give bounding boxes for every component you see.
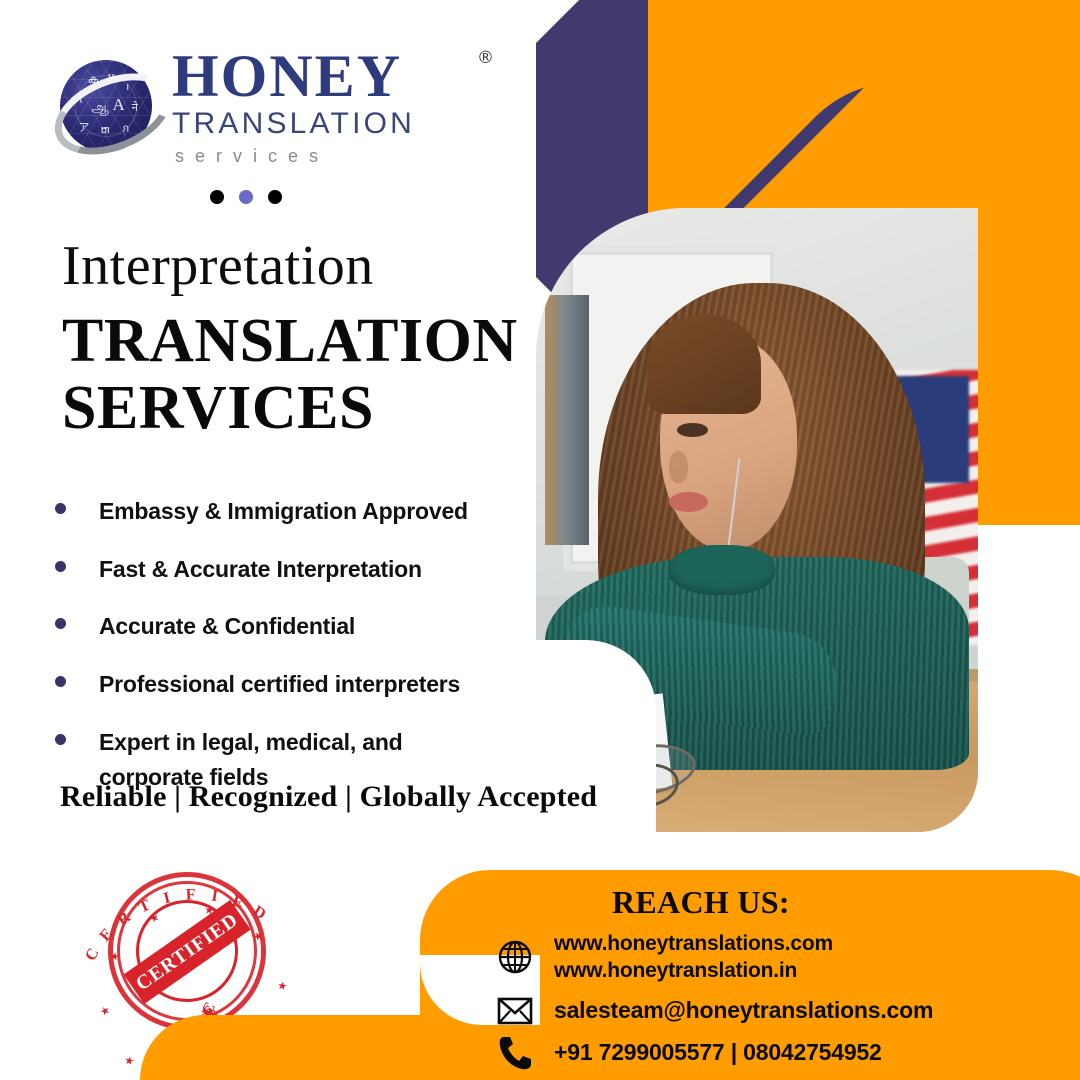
list-item: Professional certified interpreters	[55, 667, 535, 703]
stamp-star-icon: ★	[147, 910, 162, 926]
stamp-star-icon: ★	[98, 1005, 112, 1017]
bullet-dot-icon	[55, 503, 66, 514]
contact-row-phone[interactable]: +91 7299005577 | 08042754952	[494, 1032, 882, 1074]
logo-title: HONEY	[172, 46, 402, 106]
photo-person-lips	[669, 492, 709, 512]
photo-shelf-dark-panel	[545, 295, 589, 545]
dot-purple-center	[239, 190, 253, 204]
brand-logo: ക អ ו અ ஆ A ने ア ຫ ก HONEY® TRANSLATION …	[52, 46, 472, 176]
bullet-dot-icon	[55, 618, 66, 629]
photo-turtleneck-collar	[669, 545, 775, 595]
stamp-arc-char: C	[82, 945, 103, 964]
email-address[interactable]: salesteam@honeytranslations.com	[554, 996, 933, 1026]
decorative-dots	[210, 190, 282, 204]
page-title: Interpretation TRANSLATION SERVICES	[62, 238, 532, 442]
logo-subtitle-services: services	[172, 147, 472, 165]
tagline: Reliable | Recognized | Globally Accepte…	[60, 780, 597, 814]
headline-bold-line-2: SERVICES	[62, 375, 532, 442]
website-primary[interactable]: www.honeytranslations.com	[554, 930, 833, 957]
feature-list: Embassy & Immigration Approved Fast & Ac…	[55, 494, 535, 818]
list-item-label: Professional certified interpreters	[99, 667, 460, 703]
bullet-dot-icon	[55, 734, 66, 745]
stamp-star-icon: ★	[121, 1053, 137, 1069]
photo-person-hair-front	[647, 314, 762, 414]
headline-script-line: Interpretation	[62, 238, 532, 294]
phone-numbers[interactable]: +91 7299005577 | 08042754952	[554, 1038, 882, 1068]
website-secondary[interactable]: www.honeytranslation.in	[554, 957, 833, 984]
white-mask-bottom-right	[978, 525, 1080, 885]
registered-trademark-icon: ®	[477, 48, 494, 68]
dot-black-left	[210, 190, 224, 204]
logo-subtitle: TRANSLATION	[172, 109, 472, 139]
dot-black-right	[268, 190, 282, 204]
headline-bold-lines: TRANSLATION SERVICES	[62, 308, 532, 442]
phone-icon	[494, 1032, 536, 1074]
list-item-label: Accurate & Confidential	[99, 609, 355, 645]
certified-stamp-icon: CERTIFIED CERTIFIED ★★★★★★★★★★ CERTIFIED	[98, 862, 276, 1040]
stamp-star-icon: ★	[275, 980, 289, 992]
list-item: Embassy & Immigration Approved	[55, 494, 535, 530]
globe-icon	[494, 936, 536, 978]
bullet-dot-icon	[55, 676, 66, 687]
contact-row-website[interactable]: www.honeytranslations.com www.honeytrans…	[494, 930, 833, 985]
envelope-icon	[494, 990, 536, 1032]
list-item-label: Embassy & Immigration Approved	[99, 494, 468, 530]
list-item: Accurate & Confidential	[55, 609, 535, 645]
contact-row-email[interactable]: salesteam@honeytranslations.com	[494, 990, 933, 1032]
promotional-poster: ക អ ו અ ஆ A ने ア ຫ ก HONEY® TRANSLATION …	[0, 0, 1080, 1080]
headline-bold-line-1: TRANSLATION	[62, 308, 532, 375]
logo-wordmark: HONEY® TRANSLATION services	[172, 46, 472, 165]
globe-icon: ക អ ו અ ஆ A ने ア ຫ ก	[52, 54, 160, 162]
website-links[interactable]: www.honeytranslations.com www.honeytrans…	[554, 930, 833, 985]
photo-person-nose	[669, 451, 689, 482]
bullet-dot-icon	[55, 561, 66, 572]
contact-heading: REACH US:	[612, 884, 790, 921]
list-item-label: Fast & Accurate Interpretation	[99, 552, 422, 588]
list-item: Fast & Accurate Interpretation	[55, 552, 535, 588]
